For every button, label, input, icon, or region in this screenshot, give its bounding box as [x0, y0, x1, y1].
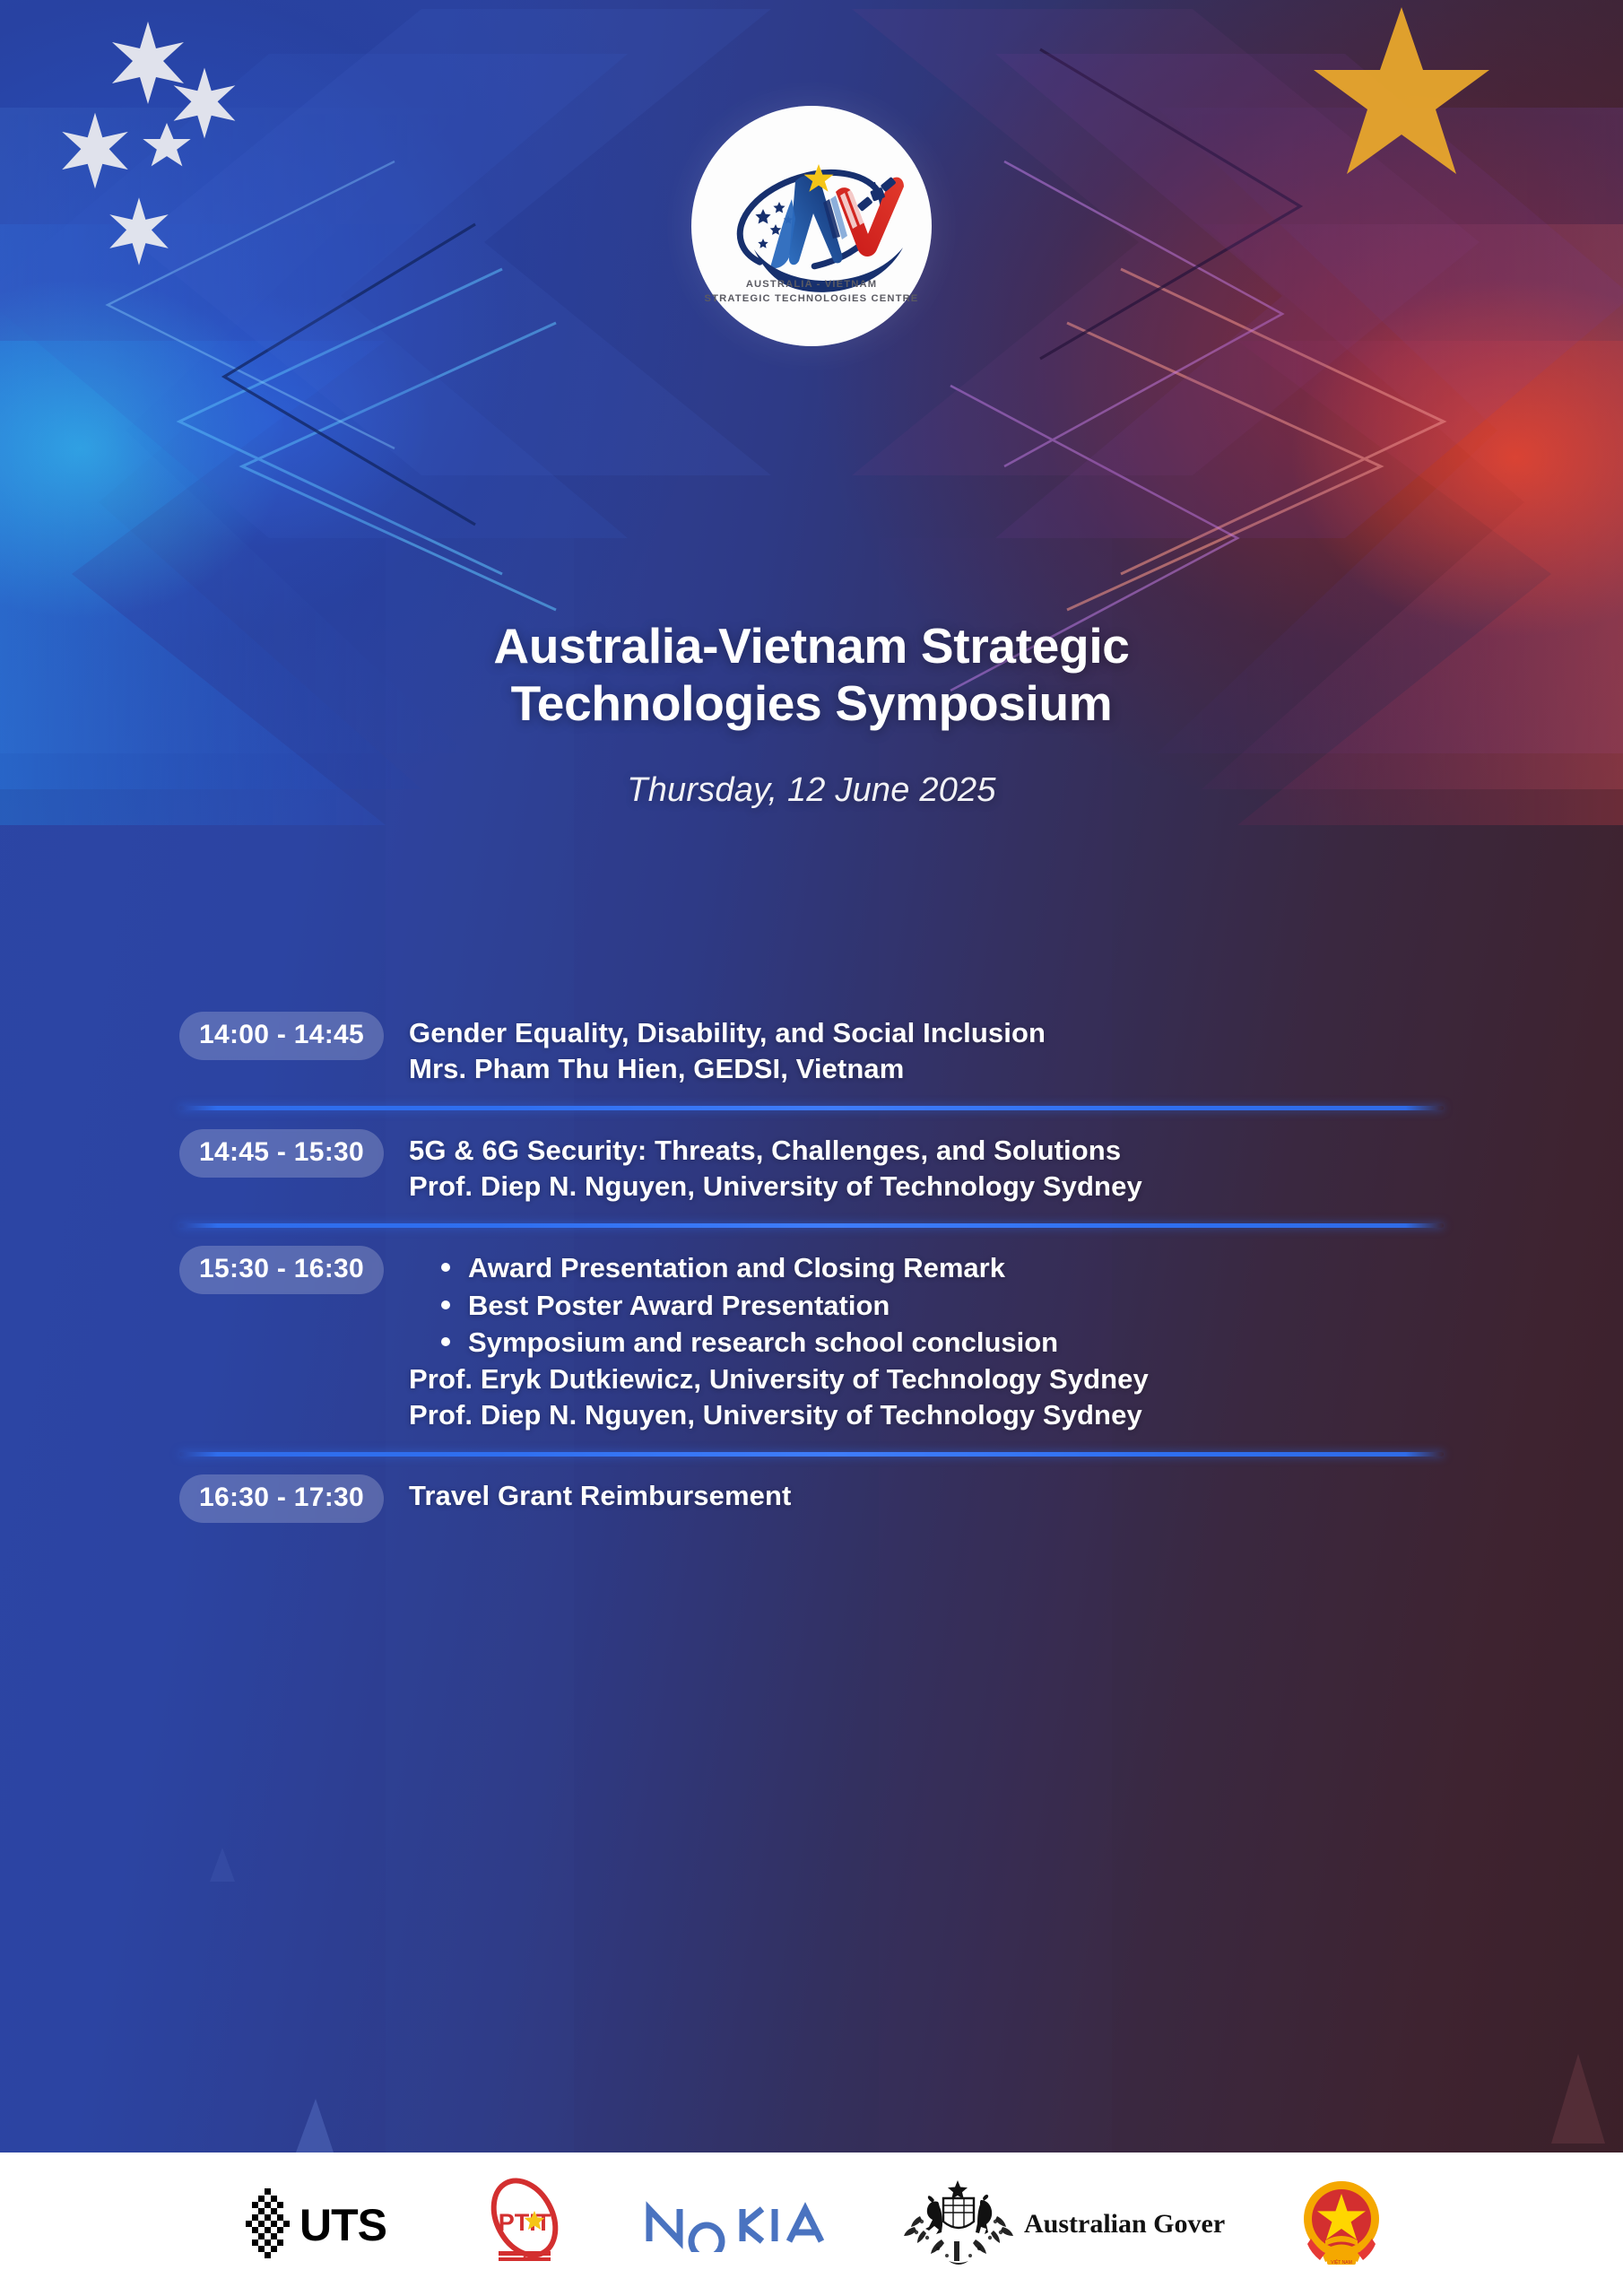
ptit-logo: PTIT: [475, 2175, 574, 2274]
event-date: Thursday, 12 June 2025: [0, 771, 1623, 810]
av-centre-logo: AUSTRALIA - VIETNAM STRATEGIC TECHNOLOGI…: [691, 106, 932, 346]
logo-caption: AUSTRALIA - VIETNAM STRATEGIC TECHNOLOGI…: [699, 278, 924, 307]
ptit-wordmark: PTIT: [499, 2209, 551, 2236]
title-line-1: Australia-Vietnam Strategic: [0, 617, 1623, 674]
schedule-row-body: 5G & 6G Security: Threats, Challenges, a…: [409, 1129, 1444, 1205]
session-bullet: Best Poster Award Presentation: [434, 1287, 1444, 1325]
session-title: 5G & 6G Security: Threats, Challenges, a…: [409, 1133, 1444, 1169]
vietnam-emblem-label: VIỆT NAM: [1331, 2258, 1352, 2266]
session-title: Travel Grant Reimbursement: [409, 1478, 1444, 1514]
session-title: Gender Equality, Disability, and Social …: [409, 1015, 1444, 1051]
schedule-row: 14:45 - 15:30 5G & 6G Security: Threats,…: [0, 1129, 1623, 1205]
vietnam-yellow-star: [1314, 7, 1489, 174]
schedule-row-body: Travel Grant Reimbursement: [409, 1474, 1444, 1514]
australian-government-wordmark: Australian Government: [1024, 2209, 1225, 2239]
time-badge: 14:45 - 15:30: [179, 1129, 384, 1178]
row-divider: [179, 1433, 1444, 1474]
nokia-logo: [644, 2196, 832, 2252]
row-divider: [179, 1205, 1444, 1246]
australian-government-logo: Australian Government: [902, 2175, 1225, 2274]
session-speaker: Prof. Diep N. Nguyen, University of Tech…: [409, 1169, 1444, 1205]
page-title: Australia-Vietnam Strategic Technologies…: [0, 617, 1623, 733]
title-line-2: Technologies Symposium: [0, 674, 1623, 732]
logo-caption-line1: AUSTRALIA - VIETNAM: [699, 278, 924, 292]
uts-wordmark: UTS: [299, 2200, 386, 2250]
time-badge: 15:30 - 16:30: [179, 1246, 384, 1294]
time-badge: 16:30 - 17:30: [179, 1474, 384, 1523]
southern-cross-stars: [62, 22, 235, 265]
session-speaker: Mrs. Pham Thu Hien, GEDSI, Vietnam: [409, 1051, 1444, 1087]
vietnam-emblem-logo: VIỆT NAM: [1295, 2174, 1388, 2274]
session-bullet: Award Presentation and Closing Remark: [434, 1249, 1444, 1287]
australian-coat-of-arms-icon: Australian Government: [902, 2175, 1225, 2274]
sponsor-footer: UTS PTIT: [0, 2152, 1623, 2296]
schedule-row: 14:00 - 14:45 Gender Equality, Disabilit…: [0, 1012, 1623, 1088]
uts-logo-icon: UTS: [235, 2187, 405, 2262]
schedule-row-body: Gender Equality, Disability, and Social …: [409, 1012, 1444, 1088]
schedule-row: 16:30 - 17:30 Travel Grant Reimbursement: [0, 1474, 1623, 1523]
uts-logo: UTS: [235, 2187, 405, 2262]
vietnam-national-emblem-icon: VIỆT NAM: [1295, 2174, 1388, 2274]
schedule-list: 14:00 - 14:45 Gender Equality, Disabilit…: [0, 1012, 1623, 1523]
nokia-logo-icon: [644, 2196, 832, 2252]
row-divider: [179, 1088, 1444, 1129]
schedule-row-body: Award Presentation and Closing Remark Be…: [409, 1246, 1444, 1433]
session-speaker: Prof. Diep N. Nguyen, University of Tech…: [409, 1397, 1444, 1433]
session-bullet-list: Award Presentation and Closing Remark Be…: [434, 1249, 1444, 1361]
logo-caption-line2: STRATEGIC TECHNOLOGIES CENTRE: [699, 292, 924, 307]
symposium-poster: AUSTRALIA - VIETNAM STRATEGIC TECHNOLOGI…: [0, 0, 1623, 2296]
ptit-logo-icon: PTIT: [475, 2175, 574, 2274]
schedule-row: 15:30 - 16:30 Award Presentation and Clo…: [0, 1246, 1623, 1433]
time-badge: 14:00 - 14:45: [179, 1012, 384, 1060]
session-bullet: Symposium and research school conclusion: [434, 1324, 1444, 1361]
session-speaker: Prof. Eryk Dutkiewicz, University of Tec…: [409, 1361, 1444, 1397]
